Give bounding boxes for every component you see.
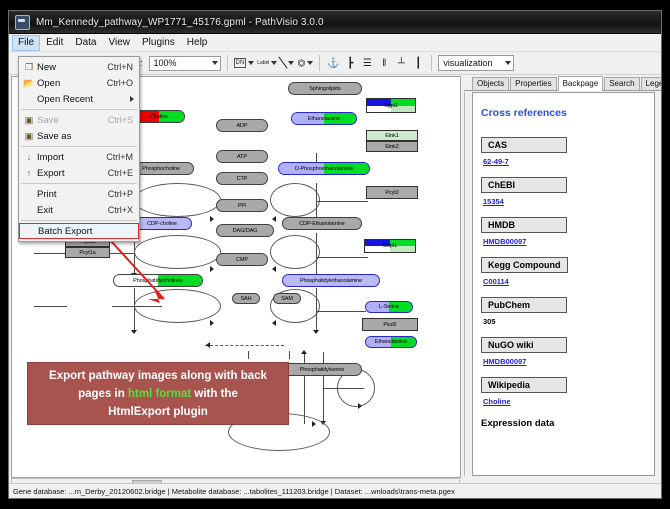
reaction-curve — [270, 235, 320, 269]
menu-item-data[interactable]: Data — [69, 35, 102, 51]
pathway-node[interactable]: Pcyt1a — [65, 247, 110, 258]
side-panel-tabs: ObjectsPropertiesBackpageSearchLegend — [464, 76, 661, 91]
cross-reference-header: NuGO wiki — [481, 337, 567, 353]
chevron-down-icon — [212, 61, 218, 65]
align-bottom-icon[interactable]: ┴ — [394, 55, 408, 71]
pathway-node-label: SAM — [281, 296, 293, 302]
pathway-node[interactable]: Sgpl1 — [366, 98, 416, 113]
pathway-node[interactable]: ADP — [216, 119, 268, 132]
label-icon[interactable]: Label — [257, 55, 277, 71]
connector — [316, 257, 368, 258]
pathway-node[interactable]: CTP — [216, 172, 268, 185]
pathway-node[interactable]: PPi — [216, 199, 268, 212]
pathway-node-label: Phosphocholine — [142, 166, 180, 172]
file-menu-item-batch-export[interactable]: Batch Export — [19, 223, 139, 239]
pathway-node[interactable]: Etnk1 — [366, 130, 418, 141]
arrow-icon — [210, 266, 214, 272]
file-menu-shortcut: Ctrl+N — [107, 62, 139, 72]
pathway-node[interactable]: Choline — [133, 110, 185, 123]
pathway-node-label: Ethanolamine — [375, 339, 407, 345]
arrow-icon — [301, 350, 307, 354]
window-title: Mm_Kennedy_pathway_WP1771_45176.gpml - P… — [36, 17, 324, 28]
tab-legend[interactable]: Legend — [641, 77, 662, 90]
pathway-node[interactable]: Phosphatidylcholines — [113, 274, 203, 287]
pathway-node[interactable]: Phosphatidylserine — [282, 363, 362, 376]
file-menu-shortcut: Ctrl+X — [108, 205, 139, 215]
file-menu-label: Save as — [37, 131, 133, 142]
pathway-node[interactable]: SAH — [232, 293, 260, 304]
callout-line-1: Export pathway images along with back — [49, 370, 267, 382]
connector — [316, 201, 368, 202]
file-menu-item-export[interactable]: ↑ExportCtrl+E — [19, 165, 139, 181]
cross-reference-entry: ChEBI15354 — [481, 175, 654, 206]
connector — [112, 306, 162, 307]
pathway-node-label: ATP — [237, 154, 247, 160]
pathway-node-label: Sgpl1 — [384, 103, 398, 109]
align-vertical-icon[interactable]: ☰ — [360, 55, 374, 71]
menu-item-view[interactable]: View — [102, 35, 136, 51]
cross-references-title: Cross references — [481, 107, 654, 119]
anchor-icon[interactable]: ⚓ — [326, 55, 340, 71]
callout-line-2-a: pages in — [78, 388, 128, 400]
cross-reference-link[interactable]: HMDB00097 — [483, 357, 654, 366]
pathway-node-label: L-Serine — [379, 304, 399, 310]
pathway-node-label: SAH — [240, 296, 251, 302]
cross-reference-header: HMDB — [481, 217, 567, 233]
pathway-node[interactable]: Pcyt2 — [366, 186, 418, 199]
file-menu-item-save: ▣SaveCtrl+S — [19, 112, 139, 128]
file-menu-label: Exit — [37, 205, 108, 216]
pathway-node-label: Chpt1 — [383, 243, 397, 249]
folder-open-icon: 📂 — [21, 78, 37, 89]
visualization-combobox[interactable]: visualization — [438, 55, 514, 71]
connector — [323, 388, 364, 389]
menu-item-file[interactable]: File — [12, 35, 40, 51]
connector — [316, 311, 366, 312]
arrow-icon — [272, 216, 276, 222]
pathway-node-label: Ethanolamine — [308, 116, 340, 122]
pathway-node-label: ADP — [236, 123, 247, 129]
pathway-node-label: CDP-choline — [147, 221, 177, 227]
callout-line-2-b: with the — [191, 388, 238, 400]
cross-reference-entry: WikipediaCholine — [481, 375, 654, 406]
pathway-node[interactable]: Ethanolamine — [365, 336, 417, 348]
pathway-node-label: CDP-Ethanolamine — [299, 221, 344, 227]
pathway-node[interactable]: Etnk2 — [366, 141, 418, 152]
file-menu-dropdown[interactable]: ❐NewCtrl+N📂OpenCtrl+OOpen Recent▣SaveCtr… — [18, 56, 140, 242]
pathway-node[interactable]: O-Phosphoethanolamine — [278, 162, 370, 175]
tab-objects[interactable]: Objects — [472, 77, 509, 90]
pathvisio-window: Mm_Kennedy_pathway_WP1771_45176.gpml - P… — [8, 10, 662, 499]
file-menu-label: Import — [37, 152, 106, 163]
reaction-curve — [270, 183, 320, 217]
pathway-node[interactable]: L-Serine — [365, 301, 413, 313]
pathway-node-label: Pcyt1a — [79, 250, 95, 256]
chevron-down-icon — [505, 61, 511, 65]
pathway-node[interactable]: Phosphatidylethanolamine — [282, 274, 380, 287]
arrow-icon — [313, 330, 319, 334]
pathway-node[interactable]: Pisd2 — [362, 318, 418, 331]
arrow-icon — [210, 216, 214, 222]
toolbar-divider — [319, 55, 320, 71]
title-bar: Mm_Kennedy_pathway_WP1771_45176.gpml - P… — [9, 11, 661, 34]
connector — [289, 351, 290, 359]
cross-reference-link[interactable]: Choline — [483, 397, 654, 406]
pathway-node-label: Pcyt2 — [385, 190, 398, 196]
cross-reference-link[interactable]: 15354 — [483, 197, 654, 206]
file-menu-shortcut: Ctrl+O — [107, 78, 139, 88]
chevron-right-icon — [130, 96, 134, 102]
cross-reference-entry: Kegg CompoundC00114 — [481, 255, 654, 286]
file-menu-label: Batch Export — [38, 226, 132, 237]
cross-reference-link[interactable]: 62-49-7 — [483, 157, 654, 166]
menu-separator — [21, 109, 137, 110]
cross-reference-header: ChEBI — [481, 177, 567, 193]
toolbar-divider — [431, 55, 432, 71]
arrow-icon — [131, 330, 137, 334]
connector — [248, 351, 249, 359]
align-left-icon[interactable]: ┣ — [343, 55, 357, 71]
side-panel-divider — [464, 92, 472, 476]
menu-separator — [21, 183, 137, 184]
file-menu-label: New — [37, 62, 107, 73]
file-menu-shortcut: Ctrl+P — [108, 189, 139, 199]
cross-reference-value: 305 — [483, 317, 654, 326]
distribute-icon[interactable]: ‖ — [377, 55, 391, 71]
pathway-node-label: DAG/DAG — [233, 228, 258, 234]
pathway-node-label: Choline — [150, 114, 168, 120]
cross-reference-header: PubChem — [481, 297, 567, 313]
save-as-icon: ▣ — [21, 131, 37, 142]
pathway-node-label: Phosphatidylethanolamine — [300, 278, 362, 284]
zoom-value: 100% — [154, 58, 177, 68]
reaction-curve — [134, 235, 221, 269]
callout-line-2-highlight: html format — [128, 388, 191, 400]
arrow-icon — [312, 421, 316, 427]
zoom-combobox[interactable]: 100% — [149, 56, 221, 71]
cross-reference-link[interactable]: HMDB00097 — [483, 237, 654, 246]
new-document-icon: ❐ — [21, 62, 37, 73]
file-menu-shortcut: Ctrl+S — [108, 115, 139, 125]
menu-item-help[interactable]: Help — [181, 35, 214, 51]
pathway-node[interactable]: Sphingolipids — [288, 82, 362, 95]
align-right-icon[interactable]: ┃ — [411, 55, 425, 71]
pathway-node[interactable]: SAM — [273, 293, 301, 304]
pathway-node-label: Etnk2 — [385, 144, 399, 150]
callout-line-3: HtmlExport plugin — [108, 406, 208, 418]
tab-search[interactable]: Search — [604, 77, 639, 90]
pathway-node-label: Pisd2 — [383, 322, 396, 328]
arrow-icon — [206, 342, 210, 348]
expression-data-title: Expression data — [481, 418, 654, 429]
reaction-curve — [134, 183, 221, 217]
arrow-icon — [272, 320, 276, 326]
pathvisio-icon — [15, 15, 30, 30]
file-menu-label: Open Recent — [37, 94, 133, 105]
file-menu-item-print[interactable]: PrintCtrl+P — [19, 186, 139, 202]
cross-reference-header: Wikipedia — [481, 377, 567, 393]
export-icon: ↑ — [21, 168, 37, 178]
file-menu-item-new[interactable]: ❐NewCtrl+N — [19, 59, 139, 75]
toolbar-divider — [227, 55, 228, 71]
cross-references-list: CAS62-49-7ChEBI15354HMDBHMDB00097Kegg Co… — [473, 135, 654, 406]
file-menu-label: Print — [37, 189, 108, 200]
cross-reference-header: Kegg Compound — [481, 257, 568, 273]
file-menu-item-import[interactable]: ↓ImportCtrl+M — [19, 149, 139, 165]
screenshot-root: Mm_Kennedy_pathway_WP1771_45176.gpml - P… — [0, 0, 670, 509]
pathway-node[interactable]: CDP-Ethanolamine — [282, 217, 362, 230]
file-menu-label: Export — [37, 168, 108, 179]
pathway-node-label: PPi — [238, 203, 246, 209]
cross-reference-entry: HMDBHMDB00097 — [481, 215, 654, 246]
file-menu-item-exit[interactable]: ExitCtrl+X — [19, 202, 139, 218]
arrow-icon — [210, 320, 214, 326]
file-menu-shortcut: Ctrl+M — [106, 152, 139, 162]
menu-item-plugins[interactable]: Plugins — [136, 35, 181, 51]
visualization-value: visualization — [443, 58, 492, 68]
pathway-node[interactable]: Ethanolamine — [291, 112, 357, 125]
tab-properties[interactable]: Properties — [510, 77, 556, 90]
pathway-node[interactable]: ATP — [216, 150, 268, 163]
cross-reference-link[interactable]: C00114 — [483, 277, 654, 286]
file-menu-label: Save — [37, 115, 108, 126]
cross-reference-entry: NuGO wikiHMDB00097 — [481, 335, 654, 366]
file-menu-shortcut: Ctrl+E — [108, 168, 139, 178]
pathway-node-label: Etnk1 — [385, 133, 399, 139]
side-panel: ObjectsPropertiesBackpageSearchLegend Cr… — [464, 76, 661, 476]
status-bar: Gene database: ...m_Derby_20120602.bridg… — [9, 483, 661, 498]
pathway-node-label: Sphingolipids — [309, 86, 340, 92]
file-menu-item-open-recent[interactable]: Open Recent — [19, 91, 139, 107]
shape-icon[interactable]: ⏣ — [297, 55, 313, 71]
backpage-content: Cross references CAS62-49-7ChEBI15354HMD… — [472, 92, 655, 476]
data-node-icon[interactable]: DN — [234, 55, 255, 71]
cross-reference-entry: PubChem305 — [481, 295, 654, 326]
menu-item-edit[interactable]: Edit — [40, 35, 69, 51]
pathway-node[interactable]: CDP-choline — [132, 217, 192, 230]
file-menu-item-open[interactable]: 📂OpenCtrl+O — [19, 75, 139, 91]
connector — [205, 345, 284, 346]
pathway-node-label: Phosphatidylserine — [300, 367, 345, 373]
pathway-node-label: CMP — [236, 257, 248, 263]
pathway-node-label: CTP — [237, 176, 248, 182]
import-icon: ↓ — [21, 152, 37, 162]
tab-backpage[interactable]: Backpage — [558, 76, 604, 91]
line-icon[interactable]: ╲ — [280, 55, 294, 71]
annotation-callout: Export pathway images along with back pa… — [27, 362, 289, 425]
cross-reference-entry: CAS62-49-7 — [481, 135, 654, 166]
menu-separator — [21, 146, 137, 147]
menu-separator — [21, 220, 137, 221]
connector — [34, 306, 67, 307]
save-disk-icon: ▣ — [21, 115, 37, 126]
file-menu-item-save-as[interactable]: ▣Save as — [19, 128, 139, 144]
pathway-node[interactable]: Chpt1 — [364, 239, 416, 253]
arrow-icon — [272, 266, 276, 272]
file-menu-label: Open — [37, 78, 107, 89]
pathway-node-label: Phosphatidylcholines — [133, 278, 183, 284]
arrow-icon — [358, 403, 362, 409]
cross-reference-header: CAS — [481, 137, 567, 153]
pathway-node[interactable]: CMP — [216, 253, 268, 266]
pathway-node[interactable]: DAG/DAG — [216, 224, 274, 237]
pathway-node-label: O-Phosphoethanolamine — [295, 166, 354, 172]
status-text: Gene database: ...m_Derby_20120602.bridg… — [9, 487, 455, 496]
menu-bar: FileEditDataViewPluginsHelp — [9, 34, 661, 52]
